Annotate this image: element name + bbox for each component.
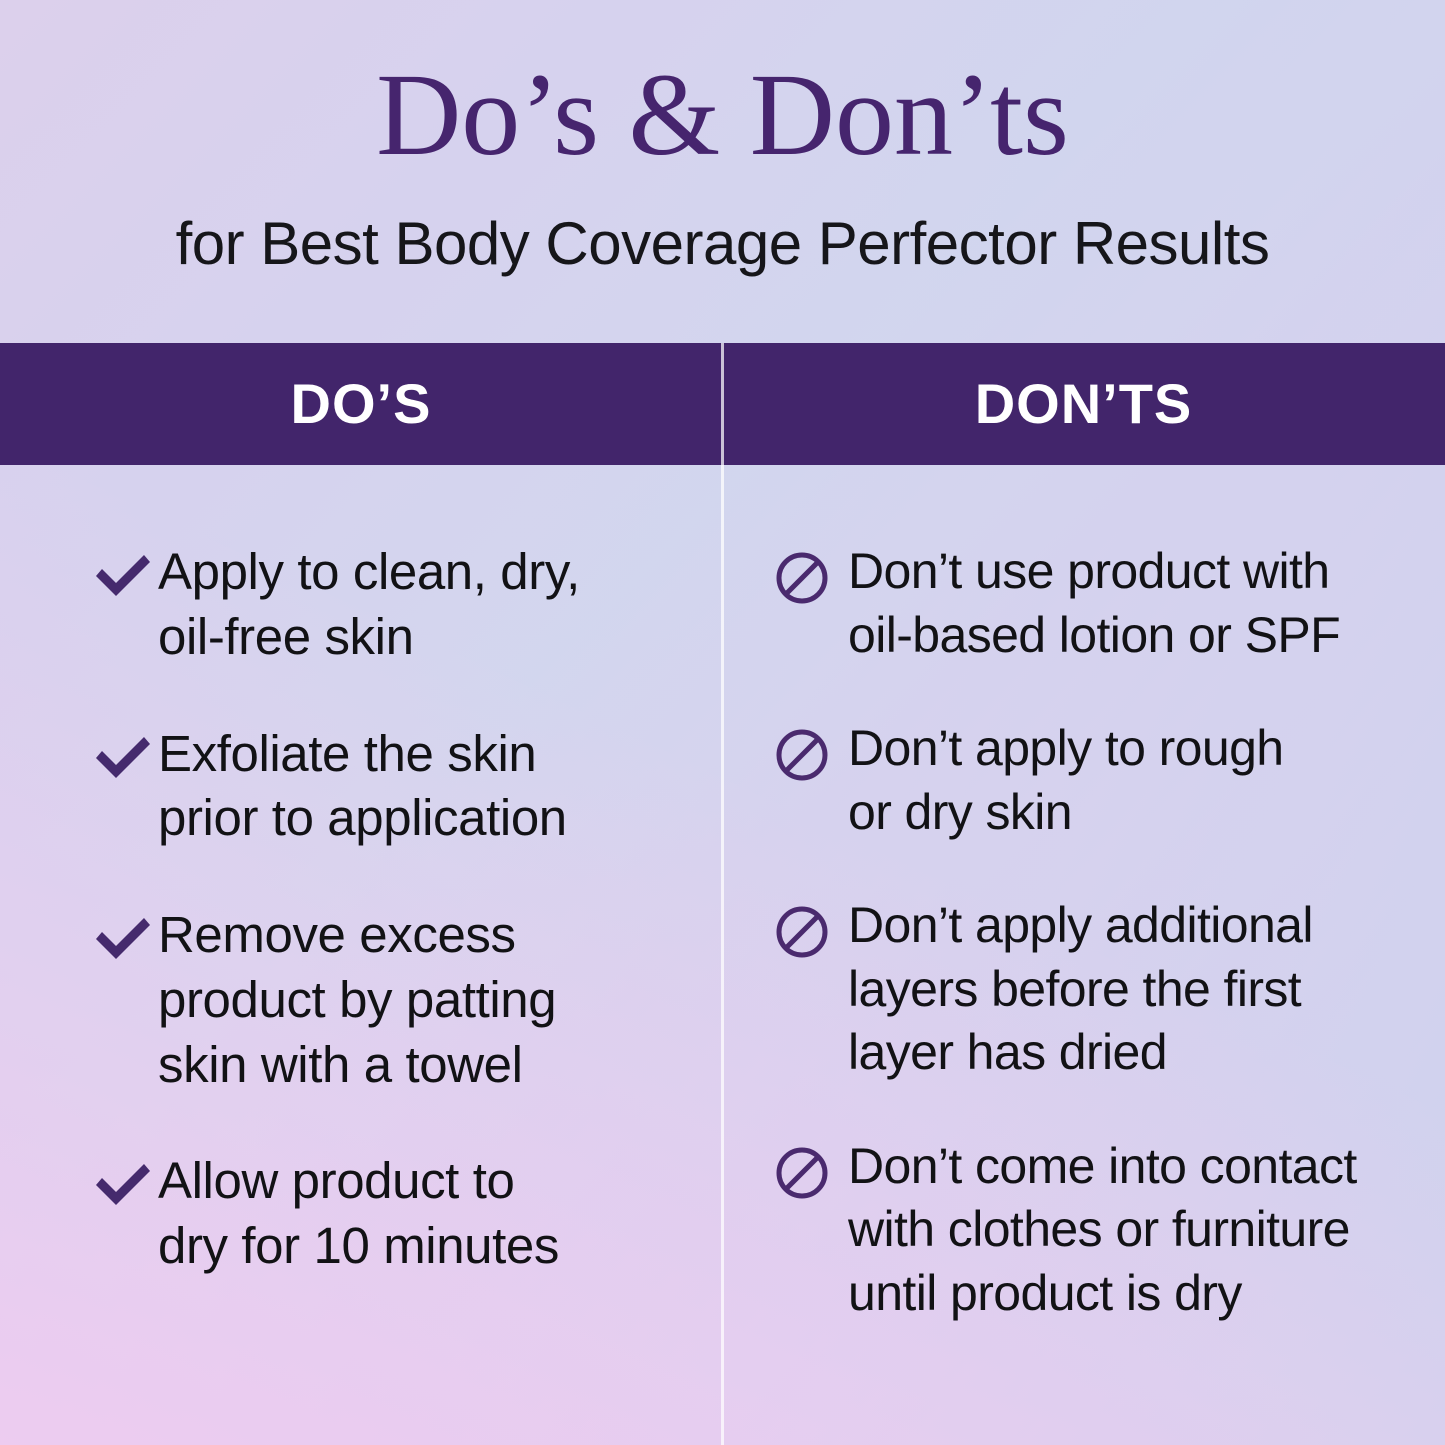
prohibition-icon [774,904,848,960]
check-icon [92,552,158,600]
prohibition-icon [774,550,848,606]
prohibition-icon [774,727,848,783]
prohibition-icon [774,1145,848,1201]
header-section: Do’s & Don’ts for Best Body Coverage Per… [0,0,1445,343]
list-item-text: Apply to clean, dry, oil-free skin [158,540,580,670]
dos-heading-label: DO’S [291,376,432,432]
list-item: Exfoliate the skin prior to application [92,722,682,852]
column-divider [721,343,724,1445]
list-item: Remove excess product by patting skin wi… [92,903,682,1097]
dos-and-donts-infographic: Do’s & Don’ts for Best Body Coverage Per… [0,0,1445,1445]
check-icon [92,734,158,782]
list-item: Allow product to dry for 10 minutes [92,1149,682,1279]
list-item: Apply to clean, dry, oil-free skin [92,540,682,670]
list-item: Don’t apply additional layers before the… [774,894,1427,1085]
donts-column: Don’t use product with oil-based lotion … [722,465,1445,1445]
list-item-text: Exfoliate the skin prior to application [158,722,567,852]
list-item: Don’t come into contact with clothes or … [774,1135,1427,1326]
dos-heading-cell: DO’S [0,343,722,465]
list-item-text: Don’t apply additional layers before the… [848,894,1313,1085]
list-item-text: Remove excess product by patting skin wi… [158,903,556,1097]
check-icon [92,915,158,963]
list-item-text: Don’t use product with oil-based lotion … [848,540,1340,667]
dos-column: Apply to clean, dry, oil-free skin Exfol… [0,465,722,1445]
list-item: Don’t use product with oil-based lotion … [774,540,1427,667]
donts-heading-label: DON’TS [975,376,1193,432]
list-item-text: Don’t apply to rough or dry skin [848,717,1284,844]
list-item-text: Allow product to dry for 10 minutes [158,1149,559,1279]
page-subtitle: for Best Body Coverage Perfector Results [0,174,1445,274]
donts-heading-cell: DON’TS [722,343,1445,465]
list-item: Don’t apply to rough or dry skin [774,717,1427,844]
check-icon [92,1161,158,1209]
list-item-text: Don’t come into contact with clothes or … [848,1135,1357,1326]
page-title: Do’s & Don’ts [0,0,1445,174]
